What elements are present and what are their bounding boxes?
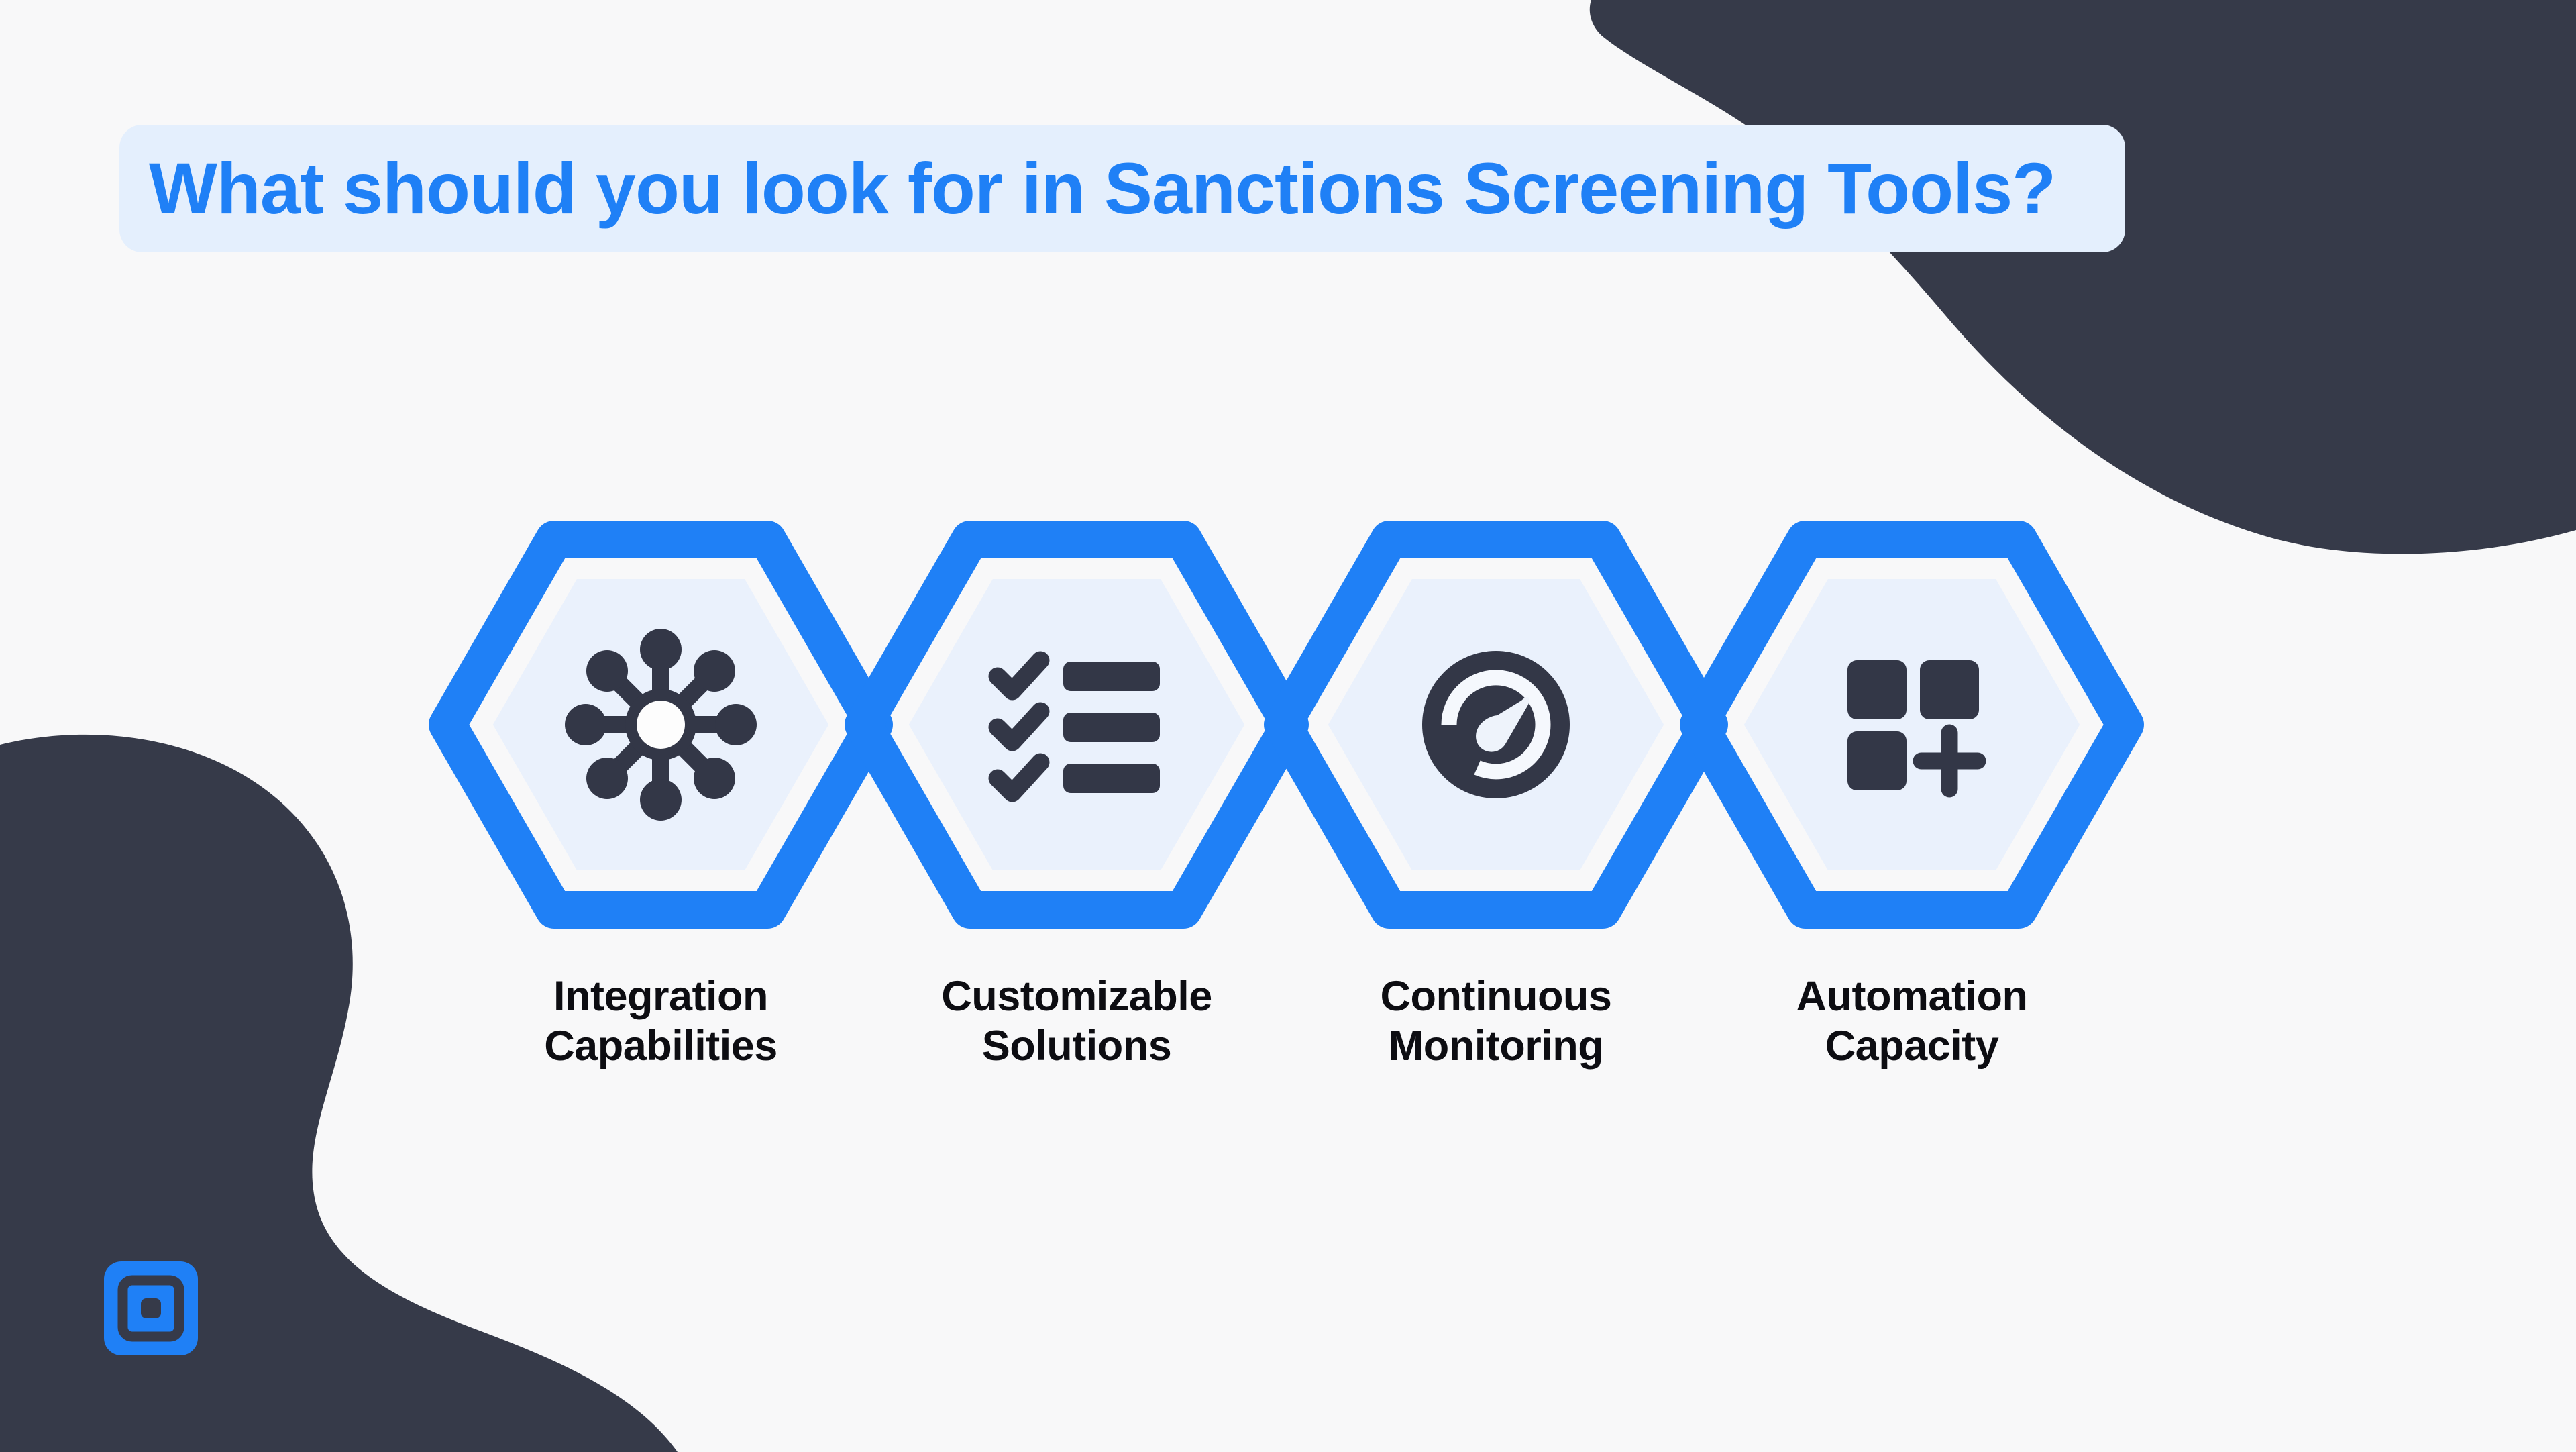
label-line-1: Automation	[1796, 973, 2028, 1020]
page-title: What should you look for in Sanctions Sc…	[149, 125, 2096, 252]
label-line-2: Monitoring	[1288, 1021, 1704, 1071]
label-line-2: Solutions	[869, 1021, 1285, 1071]
label-line-1: Continuous	[1381, 973, 1612, 1020]
hexagon-label-integration: Integration Capabilities	[453, 972, 869, 1072]
label-line-1: Customizable	[941, 973, 1212, 1020]
hexagon-label-customizable: Customizable Solutions	[869, 972, 1285, 1072]
label-line-2: Capabilities	[453, 1021, 869, 1071]
infographic-canvas: What should you look for in Sanctions Sc…	[0, 0, 2576, 1452]
hexagon-label-continuous: Continuous Monitoring	[1288, 972, 1704, 1072]
label-line-1: Integration	[553, 973, 768, 1020]
nested-square-logo[interactable]	[104, 1261, 198, 1355]
label-line-2: Capacity	[1704, 1021, 2120, 1071]
hexagon-label-automation: Automation Capacity	[1704, 972, 2120, 1072]
